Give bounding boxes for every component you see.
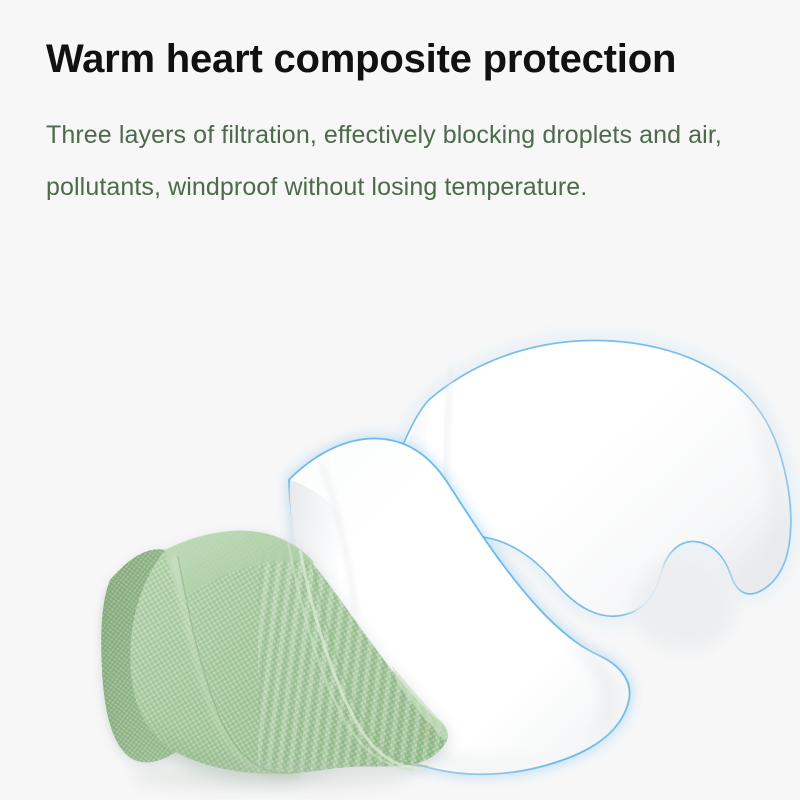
bottom-spacer: [0, 794, 800, 800]
page-subtitle: Three layers of filtration, effectively …: [46, 109, 766, 213]
green-contact-shadow: [130, 764, 410, 792]
mask-layers-illustration: [0, 250, 800, 800]
text-block: Warm heart composite protection Three la…: [46, 36, 766, 213]
page-title: Warm heart composite protection: [46, 36, 766, 83]
product-feature-banner: Warm heart composite protection Three la…: [0, 0, 800, 800]
product-image: [0, 250, 800, 800]
